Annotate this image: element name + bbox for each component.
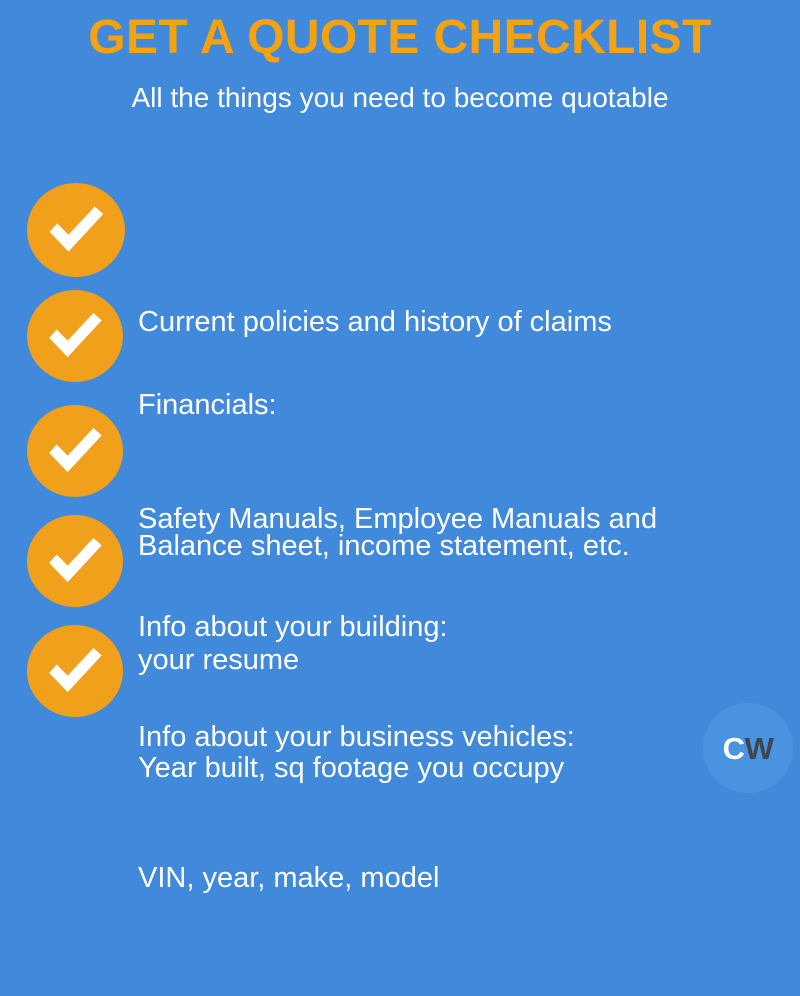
checkmark-icon — [27, 290, 123, 382]
checklist-item-text: Info about your business vehicles: VIN, … — [138, 620, 575, 996]
logo: CW — [703, 703, 793, 793]
checkmark-icon — [27, 183, 125, 277]
logo-letter-c: C — [723, 731, 745, 766]
checkmark-icon — [27, 515, 123, 607]
header: GET A QUOTE CHECKLIST All the things you… — [0, 0, 800, 112]
quote-checklist-infographic: GET A QUOTE CHECKLIST All the things you… — [0, 0, 800, 800]
logo-monogram: CW — [723, 733, 774, 764]
checkmark-icon — [27, 405, 123, 497]
logo-letter-w: W — [745, 731, 774, 766]
checkmark-icon — [27, 625, 123, 717]
page-subtitle: All the things you need to become quotab… — [0, 62, 800, 112]
checklist-item-line-1: Info about your business vehicles: — [138, 714, 575, 761]
page-title: GET A QUOTE CHECKLIST — [0, 14, 800, 62]
checklist-item-line-2: VIN, year, make, model — [138, 855, 575, 902]
